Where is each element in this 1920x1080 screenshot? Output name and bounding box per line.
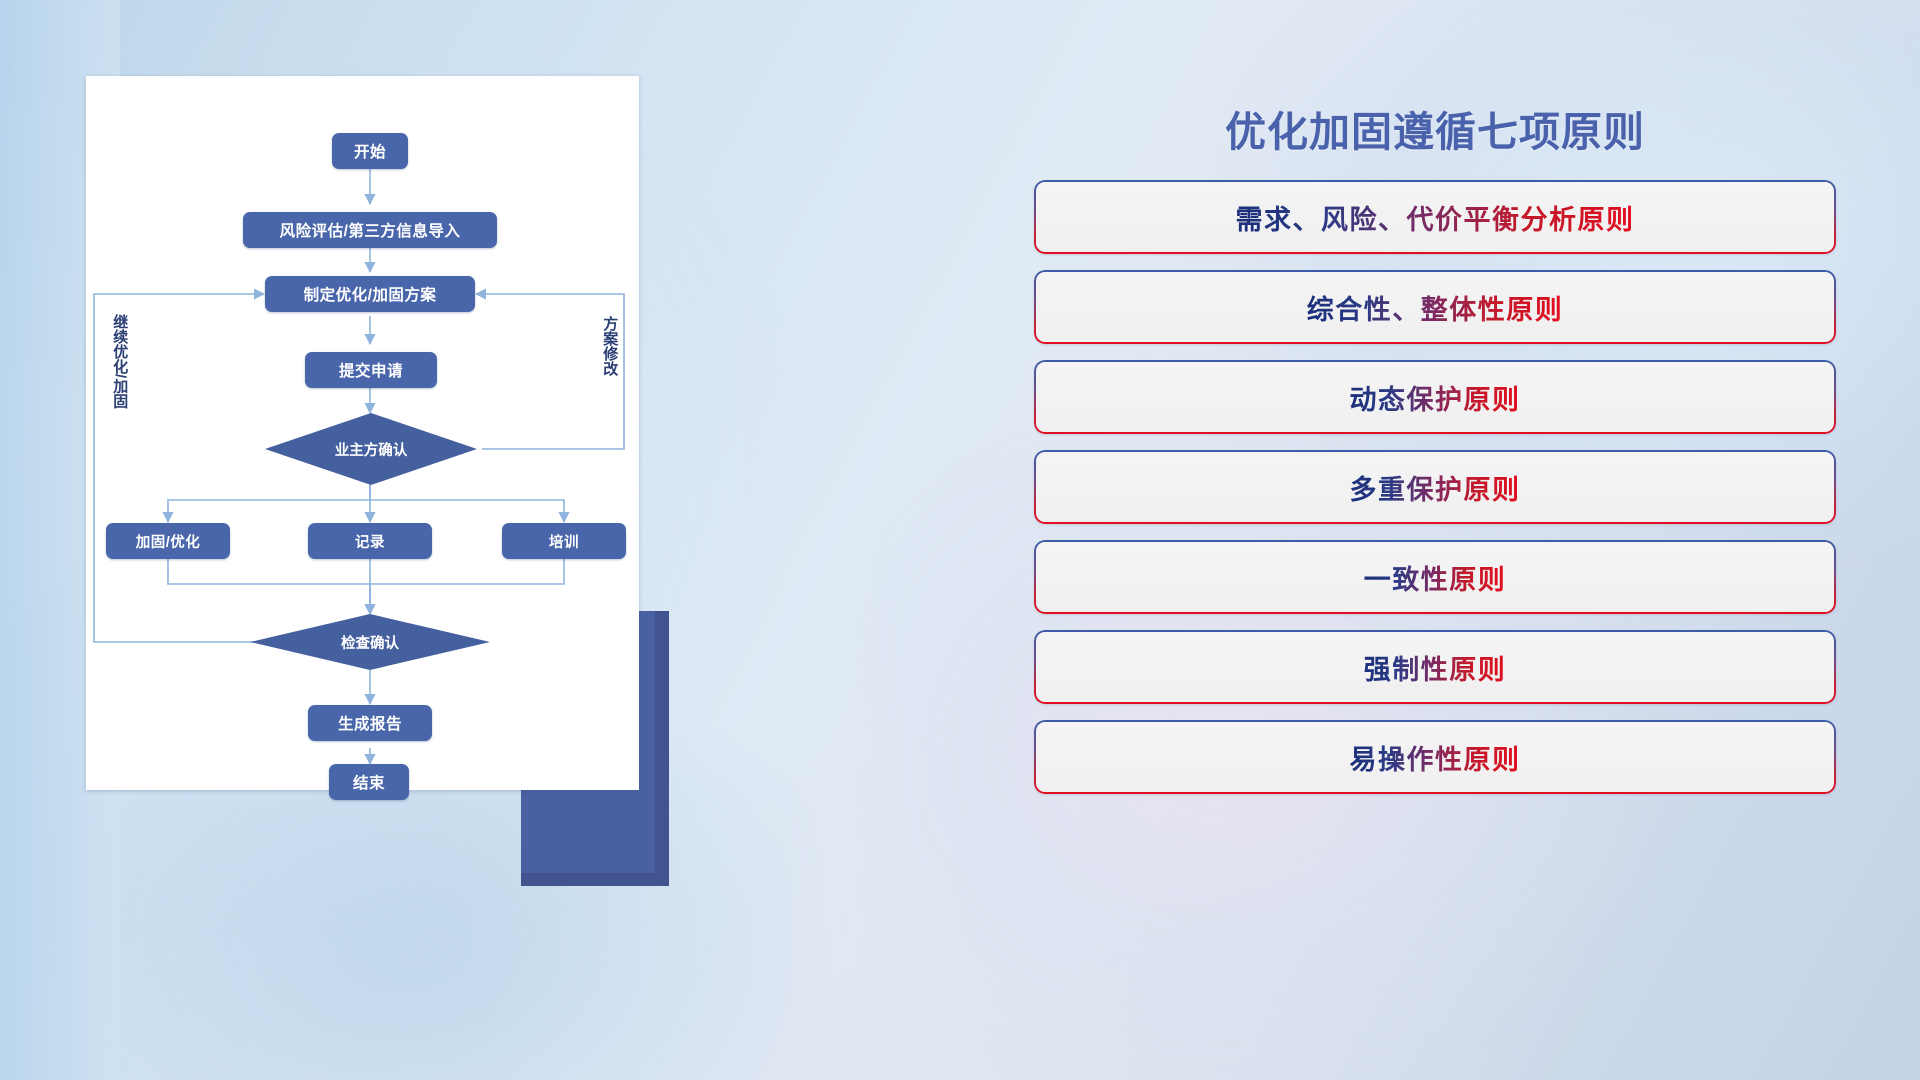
flow-edge-label-plan-revision: 方案修改 xyxy=(602,316,617,376)
flow-node-label: 培训 xyxy=(549,531,579,552)
flow-node-risk-assessment: 风险评估/第三方信息导入 xyxy=(243,212,497,248)
flow-node-label: 风险评估/第三方信息导入 xyxy=(280,219,461,241)
flow-node-label: 业主方确认 xyxy=(335,439,408,460)
principles-title: 优化加固遵循七项原则 xyxy=(1020,98,1850,158)
flow-node-generate-report: 生成报告 xyxy=(308,705,432,741)
principle-label: 一致性原则 xyxy=(1364,558,1507,597)
principle-label: 动态保护原则 xyxy=(1350,378,1521,417)
flow-node-training: 培训 xyxy=(502,523,626,559)
flowchart-card: 开始 风险评估/第三方信息导入 制定优化/加固方案 提交申请 业主方确认 加固/… xyxy=(86,76,639,790)
background-glow-bottom xyxy=(38,756,806,1080)
flow-node-label: 记录 xyxy=(355,531,385,552)
flow-node-end: 结束 xyxy=(329,764,409,800)
principle-label: 综合性、整体性原则 xyxy=(1307,288,1564,327)
principles-list: 需求、风险、代价平衡分析原则 综合性、整体性原则 动态保护原则 多重保护原则 一… xyxy=(1020,180,1850,794)
principle-label: 需求、风险、代价平衡分析原则 xyxy=(1236,198,1635,237)
flowchart-panel: 开始 风险评估/第三方信息导入 制定优化/加固方案 提交申请 业主方确认 加固/… xyxy=(86,76,639,790)
flow-node-check-confirm: 检查确认 xyxy=(250,614,490,670)
principle-card[interactable]: 强制性原则 xyxy=(1034,630,1836,704)
principle-card[interactable]: 多重保护原则 xyxy=(1034,450,1836,524)
flow-node-label: 制定优化/加固方案 xyxy=(304,283,437,305)
flow-node-reinforce: 加固/优化 xyxy=(106,523,230,559)
principle-card[interactable]: 综合性、整体性原则 xyxy=(1034,270,1836,344)
principle-card[interactable]: 需求、风险、代价平衡分析原则 xyxy=(1034,180,1836,254)
principle-card[interactable]: 易操作性原则 xyxy=(1034,720,1836,794)
flow-node-submit-application: 提交申请 xyxy=(305,352,437,388)
flow-node-label: 检查确认 xyxy=(341,632,399,653)
principle-label: 强制性原则 xyxy=(1364,648,1507,687)
flow-edge-label-continue-optimize: 继续优化/加固 xyxy=(112,314,127,408)
flow-node-label: 加固/优化 xyxy=(136,531,201,552)
principle-label: 多重保护原则 xyxy=(1350,468,1521,507)
principles-panel: 优化加固遵循七项原则 需求、风险、代价平衡分析原则 综合性、整体性原则 动态保护… xyxy=(1020,70,1850,1030)
flow-node-label: 生成报告 xyxy=(338,712,402,734)
principle-card[interactable]: 动态保护原则 xyxy=(1034,360,1836,434)
principle-card[interactable]: 一致性原则 xyxy=(1034,540,1836,614)
flow-node-label: 结束 xyxy=(353,771,385,793)
principle-label: 易操作性原则 xyxy=(1350,738,1521,777)
flow-node-start: 开始 xyxy=(332,133,408,169)
flow-node-record: 记录 xyxy=(308,523,432,559)
flow-node-label: 提交申请 xyxy=(339,359,403,381)
flow-node-plan: 制定优化/加固方案 xyxy=(265,276,475,312)
flow-node-label: 开始 xyxy=(354,140,386,162)
flow-node-owner-confirm: 业主方确认 xyxy=(265,413,477,485)
